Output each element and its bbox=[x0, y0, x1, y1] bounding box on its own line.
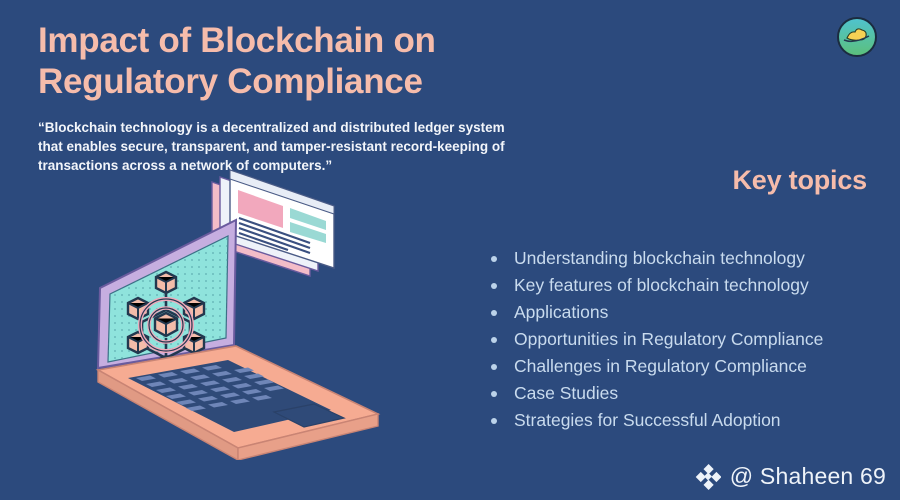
list-item: Strategies for Successful Adoption bbox=[488, 407, 823, 434]
bullet-icon bbox=[491, 364, 497, 370]
bullet-icon bbox=[491, 391, 497, 397]
key-topics-heading: Key topics bbox=[732, 165, 867, 196]
list-item: Case Studies bbox=[488, 380, 823, 407]
watermark-text: @ Shaheen 69 bbox=[730, 463, 886, 490]
circular-cloud-logo-icon bbox=[836, 16, 878, 58]
list-item-label: Strategies for Successful Adoption bbox=[514, 410, 781, 430]
illustration-isometric-laptop bbox=[78, 160, 398, 460]
bullet-icon bbox=[491, 418, 497, 424]
list-item-label: Opportunities in Regulatory Compliance bbox=[514, 329, 823, 349]
bullet-icon bbox=[491, 283, 497, 289]
bullet-icon bbox=[491, 256, 497, 262]
list-item: Understanding blockchain technology bbox=[488, 245, 823, 272]
list-item-label: Key features of blockchain technology bbox=[514, 275, 809, 295]
laptop-base bbox=[98, 346, 378, 460]
binance-diamond-icon bbox=[695, 464, 721, 490]
isometric-laptop-blockchain-graphic bbox=[78, 160, 398, 460]
bullet-icon bbox=[491, 310, 497, 316]
slide-canvas: Impact of Blockchain on Regulatory Compl… bbox=[0, 0, 900, 500]
key-topics-list: Understanding blockchain technology Key … bbox=[488, 245, 823, 434]
list-item-label: Challenges in Regulatory Compliance bbox=[514, 356, 807, 376]
title-block: Impact of Blockchain on Regulatory Compl… bbox=[38, 20, 538, 103]
list-item-label: Case Studies bbox=[514, 383, 618, 403]
list-item: Opportunities in Regulatory Compliance bbox=[488, 326, 823, 353]
list-item-label: Applications bbox=[514, 302, 608, 322]
list-item-label: Understanding blockchain technology bbox=[514, 248, 805, 268]
list-item: Applications bbox=[488, 299, 823, 326]
brand-logo bbox=[836, 16, 878, 58]
watermark: @ Shaheen 69 bbox=[695, 463, 886, 490]
bullet-icon bbox=[491, 337, 497, 343]
list-item: Challenges in Regulatory Compliance bbox=[488, 353, 823, 380]
list-item: Key features of blockchain technology bbox=[488, 272, 823, 299]
page-title: Impact of Blockchain on Regulatory Compl… bbox=[38, 20, 538, 103]
